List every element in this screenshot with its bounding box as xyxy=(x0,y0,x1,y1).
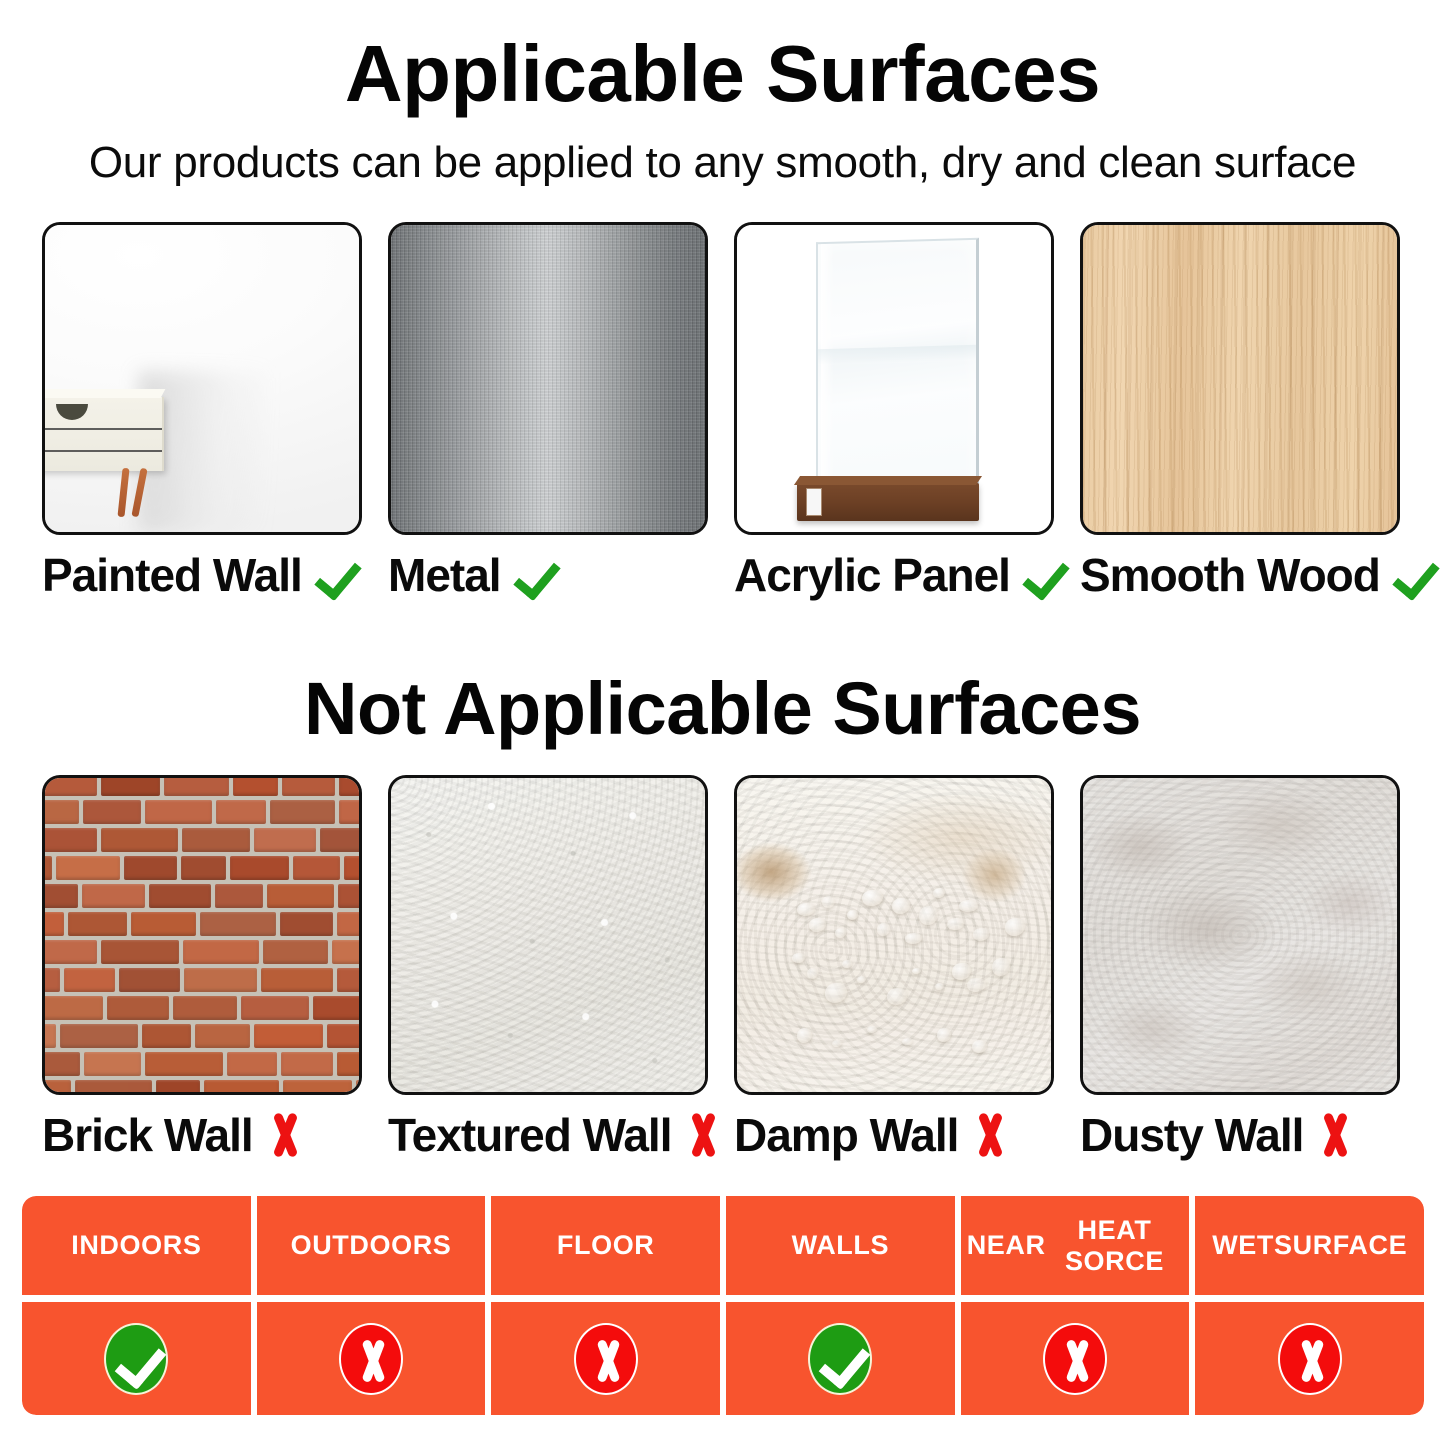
paint-blister xyxy=(822,896,835,908)
surface-card-brick-wall: Brick Wall xyxy=(42,775,362,1161)
usage-column-header: OUTDOORS xyxy=(257,1196,486,1295)
usage-header-line: WALLS xyxy=(792,1230,890,1261)
paint-blister xyxy=(842,960,852,968)
brick-unit xyxy=(119,968,180,992)
brick-unit xyxy=(60,1024,138,1048)
brick-unit xyxy=(263,940,328,964)
applicable-surfaces-grid: Painted Wall Metal xyxy=(42,222,1400,601)
brick-unit xyxy=(281,1052,333,1076)
brick-unit xyxy=(42,1080,71,1095)
usage-column-status-cell xyxy=(961,1302,1190,1415)
brick-wall-photo xyxy=(45,778,359,1092)
page-subtitle: Our products can be applied to any smoot… xyxy=(0,135,1445,191)
brick-unit xyxy=(337,968,362,992)
usage-header-line: HEAT SORCE xyxy=(1046,1215,1184,1277)
usage-conditions-table: INDOORSOUTDOORSFLOORWALLSNEARHEAT SORCEW… xyxy=(22,1196,1424,1415)
usage-column-wet-surface: WETSURFACE xyxy=(1195,1196,1424,1415)
brick-wall-image xyxy=(42,775,362,1095)
brick-unit xyxy=(313,996,362,1020)
brick-unit xyxy=(42,940,97,964)
brick-unit xyxy=(280,912,333,936)
usage-column-status-cell xyxy=(491,1302,720,1415)
usage-column-status-cell xyxy=(726,1302,955,1415)
brick-unit xyxy=(68,912,127,936)
brick-unit xyxy=(267,884,334,908)
brick-unit xyxy=(42,856,52,880)
usage-column-header: NEARHEAT SORCE xyxy=(961,1196,1190,1295)
wooden-base-slot xyxy=(806,488,822,516)
surface-label-row: Brick Wall xyxy=(42,1109,362,1161)
brick-unit xyxy=(107,996,169,1020)
paint-blister xyxy=(825,983,847,1003)
paint-blister xyxy=(1005,918,1025,936)
usage-header-line: WET xyxy=(1212,1230,1274,1261)
usage-column-walls: WALLS xyxy=(726,1196,955,1415)
brick-unit xyxy=(75,1080,152,1095)
surface-label-text: Textured Wall xyxy=(388,1109,671,1161)
dusty-wall-image xyxy=(1080,775,1400,1095)
usage-column-outdoors: OUTDOORS xyxy=(257,1196,486,1415)
green-check-icon xyxy=(312,552,358,598)
paint-blister xyxy=(937,1028,951,1042)
brick-unit xyxy=(339,800,362,824)
usage-column-status-cell xyxy=(22,1302,251,1415)
damp-wall-image xyxy=(734,775,1054,1095)
surface-label-text: Damp Wall xyxy=(734,1109,958,1161)
surface-label-row: Smooth Wood xyxy=(1080,549,1400,601)
paint-blister xyxy=(835,928,846,938)
brick-unit xyxy=(200,912,276,936)
brick-unit xyxy=(42,968,60,992)
usage-column-header: FLOOR xyxy=(491,1196,720,1295)
usage-column-header: INDOORS xyxy=(22,1196,251,1295)
green-check-badge-icon xyxy=(104,1323,168,1395)
brick-unit xyxy=(204,1080,279,1095)
red-cross-badge-icon xyxy=(1043,1323,1107,1395)
brick-unit xyxy=(82,884,145,908)
surface-label-text: Smooth Wood xyxy=(1080,549,1380,601)
brick-unit xyxy=(332,940,362,964)
acrylic-panel-image xyxy=(734,222,1054,535)
surface-card-damp-wall: Damp Wall xyxy=(734,775,1054,1161)
brick-unit xyxy=(173,996,237,1020)
brick-unit xyxy=(215,884,263,908)
red-cross-badge-icon xyxy=(1278,1323,1342,1395)
page-title-not-applicable: Not Applicable Surfaces xyxy=(0,665,1445,753)
textured-wall-photo xyxy=(391,778,705,1092)
brick-unit xyxy=(83,800,141,824)
surface-label-row: Acrylic Panel xyxy=(734,549,1054,601)
brick-unit xyxy=(327,1024,362,1048)
wooden-base-top xyxy=(794,476,982,485)
brick-unit xyxy=(42,1024,56,1048)
brick-unit xyxy=(124,856,177,880)
brick-unit xyxy=(254,828,316,852)
cabinet-leg xyxy=(118,467,130,517)
brick-unit xyxy=(338,884,362,908)
green-check-icon xyxy=(511,552,557,598)
usage-column-indoors: INDOORS xyxy=(22,1196,251,1415)
brick-unit xyxy=(42,828,97,852)
brick-unit xyxy=(181,856,226,880)
paint-blister xyxy=(973,928,989,941)
brick-unit xyxy=(261,968,333,992)
brick-unit xyxy=(195,1024,250,1048)
brick-unit xyxy=(337,1052,362,1076)
paint-blister xyxy=(862,890,883,906)
red-cross-icon xyxy=(968,1112,1012,1158)
brick-unit xyxy=(42,884,78,908)
page-title-applicable: Applicable Surfaces xyxy=(0,28,1445,120)
brick-unit xyxy=(183,940,259,964)
paint-blister xyxy=(952,963,971,980)
painted-wall-image xyxy=(42,222,362,535)
green-check-badge-icon xyxy=(808,1323,872,1395)
brick-unit xyxy=(356,1080,362,1095)
surface-card-metal: Metal xyxy=(388,222,708,601)
brick-unit xyxy=(230,856,289,880)
paint-blister xyxy=(912,968,921,974)
surface-label-row: Painted Wall xyxy=(42,549,362,601)
acrylic-sheet xyxy=(816,238,979,503)
usage-header-line: SURFACE xyxy=(1274,1230,1407,1261)
brick-unit xyxy=(184,968,257,992)
surface-label-row: Damp Wall xyxy=(734,1109,1054,1161)
paint-blister xyxy=(832,1040,842,1047)
metal-image xyxy=(388,222,708,535)
smooth-wood-image xyxy=(1080,222,1400,535)
dusty-wall-photo xyxy=(1083,778,1397,1092)
surface-label-text: Painted Wall xyxy=(42,549,302,601)
paint-blister xyxy=(857,976,866,983)
paint-blister xyxy=(807,968,818,979)
brick-unit xyxy=(320,828,362,852)
surface-card-smooth-wood: Smooth Wood xyxy=(1080,222,1400,601)
surface-card-textured-wall: Textured Wall xyxy=(388,775,708,1161)
cabinet-drawer-line xyxy=(42,428,162,430)
textured-wall-image xyxy=(388,775,708,1095)
brick-unit xyxy=(64,968,115,992)
brick-unit xyxy=(216,800,266,824)
brick-unit xyxy=(42,775,97,796)
paint-blister xyxy=(947,918,964,930)
paint-blister xyxy=(877,923,890,936)
cabinet-handle xyxy=(56,404,88,420)
surface-label-text: Brick Wall xyxy=(42,1109,253,1161)
usage-header-line: INDOORS xyxy=(71,1230,201,1261)
brick-unit xyxy=(56,856,120,880)
paint-blister xyxy=(992,958,1010,976)
red-cross-badge-icon xyxy=(339,1323,403,1395)
smooth-wood-photo xyxy=(1083,225,1397,532)
surface-label-row: Dusty Wall xyxy=(1080,1109,1400,1161)
brick-unit xyxy=(337,912,362,936)
brick-unit xyxy=(293,856,340,880)
brick-unit xyxy=(339,775,362,796)
brick-unit xyxy=(131,912,196,936)
surface-label-row: Metal xyxy=(388,549,708,601)
paint-blister xyxy=(867,1026,877,1033)
brick-unit xyxy=(227,1052,277,1076)
paint-blister xyxy=(797,1028,812,1043)
brick-unit xyxy=(344,856,362,880)
paint-blister xyxy=(892,898,910,914)
brick-unit xyxy=(283,1080,352,1095)
surface-label-row: Textured Wall xyxy=(388,1109,708,1161)
brick-unit xyxy=(42,1052,80,1076)
brick-unit xyxy=(156,1080,200,1095)
cabinet-shape xyxy=(42,397,164,471)
surface-card-dusty-wall: Dusty Wall xyxy=(1080,775,1400,1161)
paint-blister xyxy=(919,906,938,925)
brick-unit xyxy=(270,800,335,824)
red-cross-icon xyxy=(1313,1112,1357,1158)
acrylic-panel-photo xyxy=(737,225,1051,532)
red-cross-badge-icon xyxy=(574,1323,638,1395)
usage-column-header: WALLS xyxy=(726,1196,955,1295)
surface-label-text: Dusty Wall xyxy=(1080,1109,1303,1161)
green-check-icon xyxy=(1390,552,1436,598)
usage-header-line: OUTDOORS xyxy=(291,1230,452,1261)
brick-unit xyxy=(101,940,179,964)
usage-header-line: FLOOR xyxy=(557,1230,655,1261)
not-applicable-surfaces-grid: Brick Wall Textured Wall Damp Wall Dusty… xyxy=(42,775,1400,1161)
acrylic-reflection-band xyxy=(818,345,976,365)
paint-blister xyxy=(967,978,986,992)
surface-card-acrylic-panel: Acrylic Panel xyxy=(734,222,1054,601)
paint-blister xyxy=(809,918,826,932)
usage-header-line: NEAR xyxy=(967,1230,1046,1261)
wooden-base xyxy=(797,483,979,521)
usage-column-floor: FLOOR xyxy=(491,1196,720,1415)
damp-wall-photo xyxy=(737,778,1051,1092)
brick-unit xyxy=(149,884,211,908)
brick-unit xyxy=(42,996,103,1020)
surface-label-text: Metal xyxy=(388,549,501,601)
brick-unit xyxy=(282,775,335,796)
brick-unit xyxy=(84,1052,141,1076)
usage-column-status-cell xyxy=(1195,1302,1424,1415)
surface-label-text: Acrylic Panel xyxy=(734,549,1010,601)
paint-blister xyxy=(972,1040,987,1053)
brick-unit xyxy=(233,775,278,796)
paint-blister xyxy=(847,910,858,920)
surface-card-painted-wall: Painted Wall xyxy=(42,222,362,601)
brick-unit xyxy=(101,775,160,796)
acrylic-gloss xyxy=(821,244,834,501)
usage-column-status-cell xyxy=(257,1302,486,1415)
paint-blister xyxy=(902,1038,913,1045)
brick-unit xyxy=(164,775,229,796)
paint-blister xyxy=(959,900,978,912)
brick-unit xyxy=(142,1024,191,1048)
paint-blister xyxy=(935,983,944,990)
cabinet-top-edge xyxy=(42,389,165,398)
paint-blister xyxy=(792,953,805,963)
brushed-metal-photo xyxy=(391,225,705,532)
green-check-icon xyxy=(1020,552,1066,598)
paint-blister xyxy=(887,988,907,1005)
red-cross-icon xyxy=(263,1112,307,1158)
usage-column-header: WETSURFACE xyxy=(1195,1196,1424,1295)
usage-column-near-heat-sorce: NEARHEAT SORCE xyxy=(961,1196,1190,1415)
cabinet-drawer-line xyxy=(42,450,162,452)
painted-wall-photo xyxy=(45,225,359,532)
paint-blister xyxy=(905,933,922,944)
brick-unit xyxy=(101,828,178,852)
brick-unit xyxy=(42,912,64,936)
brick-unit xyxy=(145,1052,223,1076)
paint-blister xyxy=(933,888,945,898)
brick-unit xyxy=(254,1024,323,1048)
brick-unit xyxy=(241,996,309,1020)
brick-unit xyxy=(145,800,212,824)
brick-unit xyxy=(42,800,79,824)
paint-blister xyxy=(797,903,815,916)
red-cross-icon xyxy=(681,1112,725,1158)
brick-unit xyxy=(182,828,250,852)
